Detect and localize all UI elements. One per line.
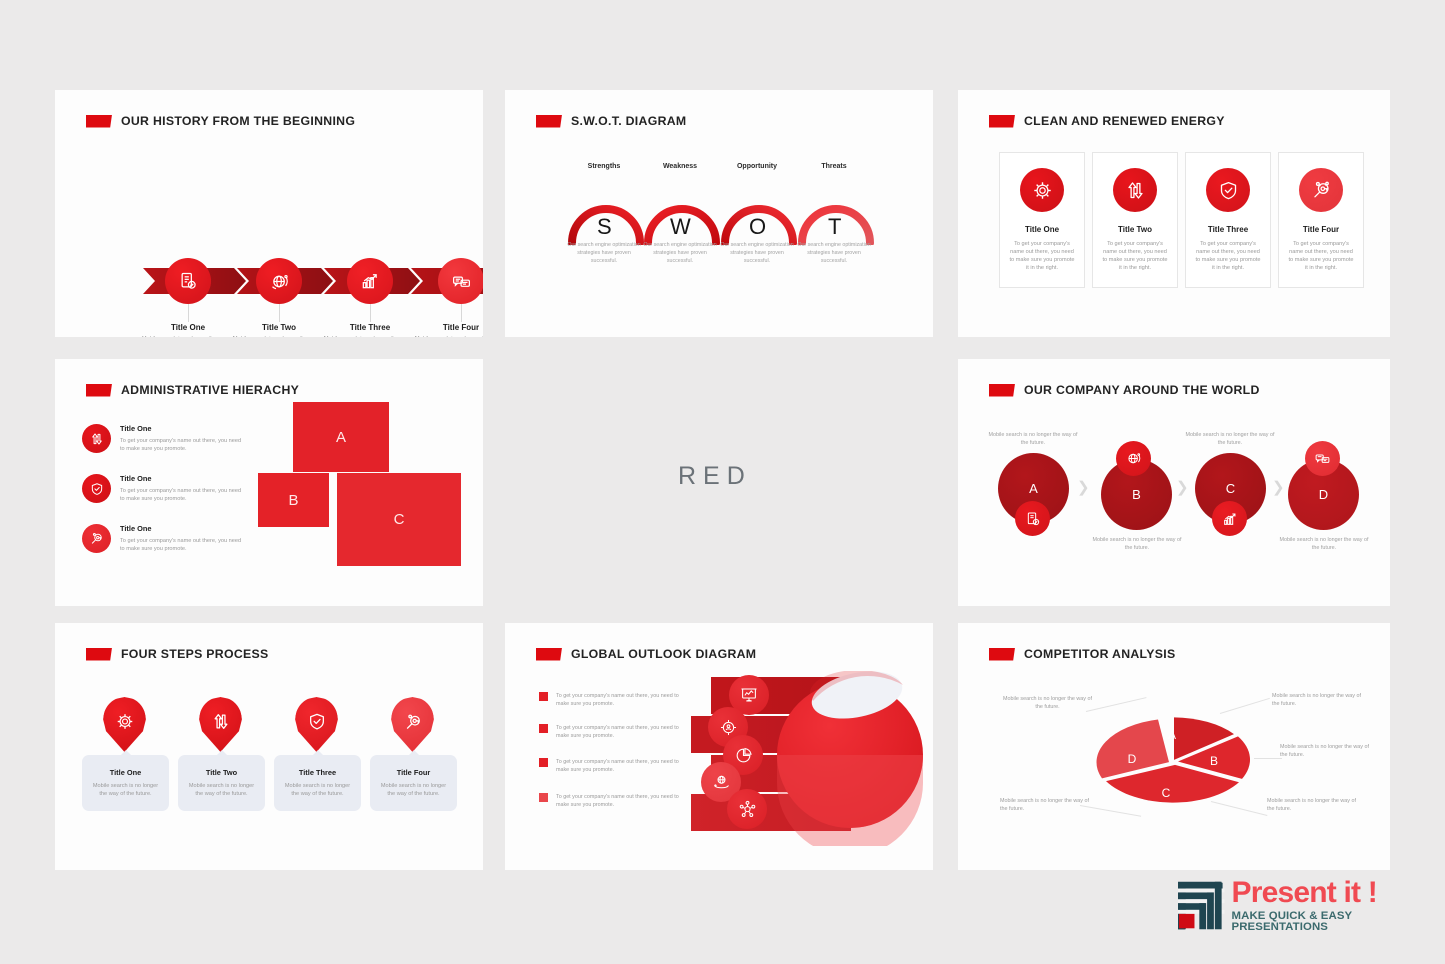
chat-bubbles-icon — [1305, 441, 1340, 476]
pie-label-a: A — [1168, 728, 1176, 742]
card-title: Title One — [1025, 225, 1059, 234]
globe-orbit-icon — [1116, 441, 1151, 476]
world-text-d: Mobile search is no longer the way of th… — [1276, 536, 1372, 552]
hierarchy-list-item-1[interactable]: Title One To get your company's name out… — [82, 424, 244, 453]
gear-icon — [115, 712, 134, 736]
slide-clean-energy[interactable]: CLEAN AND RENEWED ENERGY Title One To ge… — [958, 90, 1390, 337]
swot-desc-0: Our search engine optimization strategie… — [566, 242, 642, 266]
outlook-bullet-2[interactable]: To get your company's name out there, yo… — [539, 724, 680, 741]
competitor-label-d: Mobile search is no longer the way of th… — [1000, 695, 1095, 712]
step-box-2[interactable]: Title Two Mobile search is no longer the… — [178, 755, 265, 811]
chevron-right-icon-2: ❯ — [1176, 478, 1189, 496]
title-marker-icon — [989, 648, 1015, 661]
swot-heading-1: Weakness — [642, 163, 718, 170]
shield-check-icon — [307, 712, 326, 736]
key-search-icon — [82, 524, 111, 553]
step-pin-1[interactable] — [103, 697, 146, 752]
bullet-square-icon — [539, 793, 548, 802]
pie-label-b: B — [1210, 754, 1218, 768]
title-marker-icon — [989, 115, 1015, 128]
timeline-label-4: Title Four Mobile search is no longer th… — [411, 323, 483, 337]
hierarchy-list-item-2[interactable]: Title One To get your company's name out… — [82, 474, 244, 503]
timeline-label-1: Title One Mobile search is no longer the… — [138, 323, 238, 337]
card-body: To get your company's name out there, yo… — [1101, 240, 1169, 272]
document-check-icon — [1015, 501, 1050, 536]
page-title: ADMINISTRATIVE HIERACHY — [121, 383, 299, 397]
pie-label-c: C — [1162, 786, 1171, 800]
competitor-label-b: Mobile search is no longer the way of th… — [1280, 743, 1375, 760]
timeline-node-4[interactable] — [438, 258, 483, 304]
card-title: Title Two — [1118, 225, 1152, 234]
world-text-c: Mobile search is no longer the way of th… — [1182, 431, 1278, 447]
card-body: To get your company's name out there, yo… — [1194, 240, 1262, 272]
world-text-a: Mobile search is no longer the way of th… — [985, 431, 1081, 447]
world-text-b: Mobile search is no longer the way of th… — [1089, 536, 1185, 552]
node-stem-2 — [279, 304, 280, 322]
timeline-node-3[interactable] — [347, 258, 393, 304]
title-marker-icon — [536, 648, 562, 661]
page-title: GLOBAL OUTLOOK DIAGRAM — [571, 647, 756, 661]
timeline-node-2[interactable] — [256, 258, 302, 304]
chat-bubbles-icon — [438, 258, 483, 304]
page-title: OUR HISTORY FROM THE BEGINNING — [121, 114, 355, 128]
bar-chart-growth-icon — [347, 258, 393, 304]
bullet-square-icon — [539, 758, 548, 767]
timeline-label-3: Title Three Mobile search is no longer t… — [320, 323, 420, 337]
page-title: FOUR STEPS PROCESS — [121, 647, 269, 661]
brand-word-red: RED — [678, 462, 752, 491]
card-body: To get your company's name out there, yo… — [1287, 240, 1355, 272]
logo-tagline: MAKE QUICK & EASY PRESENTATIONS — [1232, 911, 1445, 934]
shield-check-icon — [1206, 168, 1250, 212]
shield-check-icon — [82, 474, 111, 503]
node-stem-4 — [461, 304, 462, 322]
swot-heading-3: Threats — [796, 163, 872, 170]
timeline-node-1[interactable] — [165, 258, 211, 304]
swot-letter-T: T — [828, 214, 841, 240]
bar-chart-growth-icon — [1212, 501, 1247, 536]
outlook-bullet-1[interactable]: To get your company's name out there, yo… — [539, 692, 680, 709]
network-person-icon[interactable] — [727, 789, 767, 829]
globe-graphic — [685, 671, 925, 846]
energy-card-4[interactable]: Title Four To get your company's name ou… — [1278, 152, 1364, 288]
chevron-right-icon-1: ❯ — [1077, 478, 1090, 496]
swot-letter-O: O — [749, 214, 766, 240]
callout-line-3 — [1254, 758, 1282, 759]
competitor-label-c2: Mobile search is no longer the way of th… — [1267, 797, 1362, 814]
outlook-bullet-3[interactable]: To get your company's name out there, yo… — [539, 758, 680, 775]
page-title: OUR COMPANY AROUND THE WORLD — [1024, 383, 1260, 397]
globe-orbit-icon — [256, 258, 302, 304]
competitor-label-c: Mobile search is no longer the way of th… — [1000, 797, 1095, 814]
slide-admin-hierarchy[interactable]: ADMINISTRATIVE HIERACHY Title One To get… — [55, 359, 483, 606]
node-stem-1 — [188, 304, 189, 322]
slide-four-steps[interactable]: FOUR STEPS PROCESS Title One Mobile se — [55, 623, 483, 870]
two-arrows-icon — [82, 424, 111, 453]
chevron-right-icon-3: ❯ — [1272, 478, 1285, 496]
step-pin-3[interactable] — [295, 697, 338, 752]
step-pin-4[interactable] — [391, 697, 434, 752]
slide-competitor-analysis[interactable]: COMPETITOR ANALYSIS A B C D — [958, 623, 1390, 870]
page-title: CLEAN AND RENEWED ENERGY — [1024, 114, 1225, 128]
gear-icon — [1020, 168, 1064, 212]
title-marker-icon — [86, 384, 112, 397]
document-check-icon — [165, 258, 211, 304]
title-marker-icon — [536, 115, 562, 128]
swot-letter-W: W — [670, 214, 691, 240]
title-marker-icon — [86, 115, 112, 128]
swot-letter-S: S — [597, 214, 612, 240]
slide-our-history[interactable]: OUR HISTORY FROM THE BEGINNING — [55, 90, 483, 337]
bullet-square-icon — [539, 724, 548, 733]
two-arrows-icon — [211, 712, 230, 736]
logo-main-text: Present it ! — [1232, 878, 1445, 908]
presentation-overview-canvas: OUR HISTORY FROM THE BEGINNING — [0, 0, 1445, 964]
page-title: COMPETITOR ANALYSIS — [1024, 647, 1175, 661]
energy-card-2[interactable]: Title Two To get your company's name out… — [1092, 152, 1178, 288]
swot-heading-2: Opportunity — [719, 163, 795, 170]
step-box-4[interactable]: Title Four Mobile search is no longer th… — [370, 755, 457, 811]
title-marker-icon — [989, 384, 1015, 397]
hierarchy-list-item-3[interactable]: Title One To get your company's name out… — [82, 524, 244, 553]
title-marker-icon — [86, 648, 112, 661]
page-title: S.W.O.T. DIAGRAM — [571, 114, 686, 128]
step-pin-2[interactable] — [199, 697, 242, 752]
swot-heading-0: Strengths — [566, 163, 642, 170]
step-box-1[interactable]: Title One Mobile search is no longer the… — [82, 755, 169, 811]
timeline-label-2: Title Two Mobile search is no longer the… — [229, 323, 329, 337]
pie-label-d: D — [1128, 752, 1137, 766]
key-search-icon — [403, 712, 423, 737]
card-title: Title Four — [1303, 225, 1339, 234]
slide-swot[interactable]: S.W.O.T. DIAGRAM — [505, 90, 933, 337]
energy-card-3[interactable]: Title Three To get your company's name o… — [1185, 152, 1271, 288]
two-arrows-icon — [1113, 168, 1157, 212]
slide-global-outlook[interactable]: GLOBAL OUTLOOK DIAGRAM To get your compa… — [505, 623, 933, 870]
swot-desc-1: Our search engine optimization strategie… — [642, 242, 718, 266]
stacked-corners-logo-icon — [1178, 880, 1225, 932]
swot-desc-2: Our search engine optimization strategie… — [719, 242, 795, 266]
present-it-logo: Present it ! MAKE QUICK & EASY PRESENTAT… — [1178, 878, 1445, 934]
node-stem-3 — [370, 304, 371, 322]
step-box-3[interactable]: Title Three Mobile search is no longer t… — [274, 755, 361, 811]
key-search-icon — [1299, 168, 1343, 212]
outlook-bullet-4[interactable]: To get your company's name out there, yo… — [539, 793, 680, 810]
card-body: To get your company's name out there, yo… — [1008, 240, 1076, 272]
hierarchy-block-b[interactable]: B — [258, 473, 329, 527]
slide-around-the-world[interactable]: OUR COMPANY AROUND THE WORLD A Mobile se… — [958, 359, 1390, 606]
card-title: Title Three — [1208, 225, 1248, 234]
bullet-square-icon — [539, 692, 548, 701]
hierarchy-block-c[interactable]: C — [337, 473, 461, 566]
energy-card-1[interactable]: Title One To get your company's name out… — [999, 152, 1085, 288]
competitor-label-a: Mobile search is no longer the way of th… — [1272, 692, 1367, 709]
swot-desc-3: Our search engine optimization strategie… — [796, 242, 872, 266]
hierarchy-block-a[interactable]: A — [293, 402, 389, 472]
